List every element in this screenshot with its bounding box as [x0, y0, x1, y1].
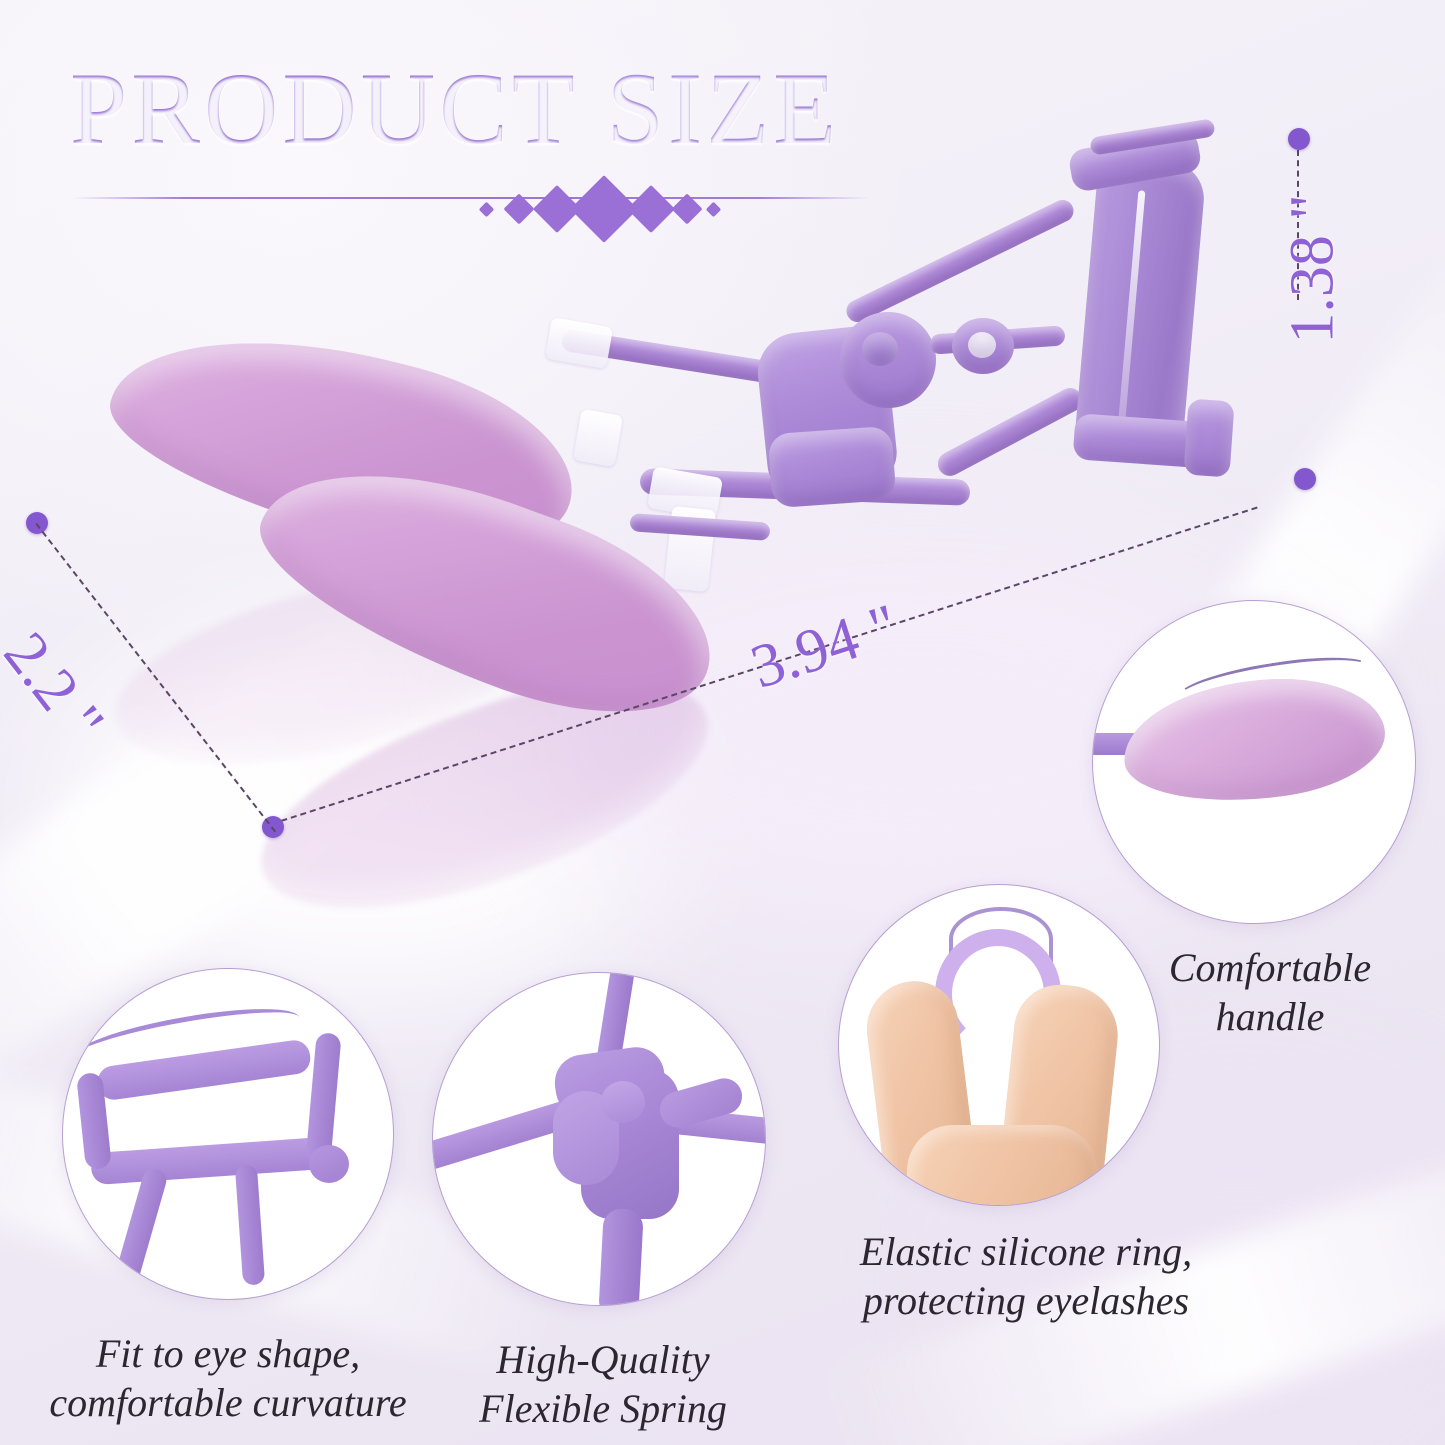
feature-caption-comfortable-handle: Comfortable handle — [1130, 944, 1410, 1042]
page-title: PRODUCT SIZE — [70, 58, 840, 161]
feature-circle-flexible-spring — [432, 972, 766, 1306]
product-size-infographic: PRODUCT SIZE — [0, 0, 1445, 1445]
dimension-label-width: 2.2 " — [0, 622, 115, 753]
dimension-endpoint-dot — [1294, 468, 1316, 490]
dimension-endpoint-dot — [1288, 128, 1310, 150]
feature-caption-silicone-ring: Elastic silicone ring, protecting eyelas… — [816, 1228, 1236, 1326]
curler-frame-icon — [63, 969, 393, 1299]
diamond-divider-icon — [72, 183, 870, 213]
handle-upper — [93, 298, 592, 584]
handle-lower — [236, 425, 739, 753]
feature-circle-fit-eye-shape — [62, 968, 394, 1300]
spring-hinge-icon — [433, 973, 765, 1305]
feature-caption-fit-eye-shape: Fit to eye shape, comfortable curvature — [22, 1330, 434, 1428]
divider-rule — [72, 197, 870, 199]
handle-closeup-icon — [1093, 601, 1415, 923]
feature-caption-flexible-spring: High-Quality Flexible Spring — [438, 1336, 768, 1434]
feature-circle-comfortable-handle — [1092, 600, 1416, 924]
feature-circle-silicone-ring — [838, 884, 1160, 1206]
dimension-label-length: 3.94 " — [744, 594, 905, 699]
fingers-holding-ring-icon — [839, 885, 1159, 1205]
dimension-label-height: 1.38 " — [1282, 194, 1344, 343]
